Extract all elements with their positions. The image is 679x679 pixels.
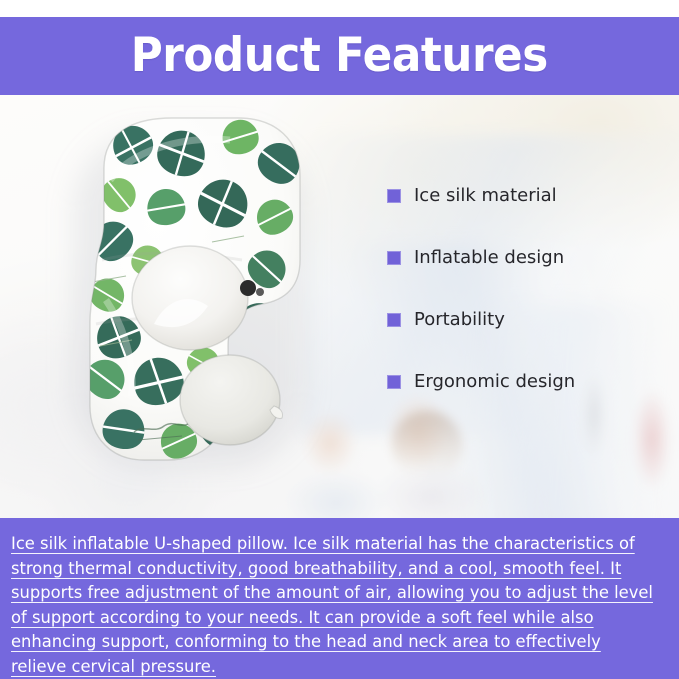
feature-label: Portability [414, 309, 505, 331]
product-pillow-image [62, 110, 312, 470]
square-bullet-icon [387, 313, 401, 327]
feature-list: Ice silk material Inflatable design Port… [387, 185, 667, 393]
product-stage: Ice silk material Inflatable design Port… [0, 95, 679, 518]
feature-item-ice-silk-material[interactable]: Ice silk material [387, 185, 667, 207]
square-bullet-icon [387, 251, 401, 265]
pillow-center-opening [132, 246, 248, 350]
feature-item-ergonomic-design[interactable]: Ergonomic design [387, 371, 667, 393]
pillow-illustration [62, 110, 312, 470]
feature-label: Ice silk material [414, 185, 557, 207]
feature-item-portability[interactable]: Portability [387, 309, 667, 331]
square-bullet-icon [387, 189, 401, 203]
product-features-infographic: Product Features [0, 0, 679, 679]
header-banner: Product Features [0, 17, 679, 95]
feature-item-inflatable-design[interactable]: Inflatable design [387, 247, 667, 269]
feature-label: Ergonomic design [414, 371, 575, 393]
square-bullet-icon [387, 375, 401, 389]
pillow-valve-disc [180, 355, 283, 445]
description-block: Ice silk inflatable U-shaped pillow. Ice… [0, 518, 679, 679]
feature-label: Inflatable design [414, 247, 564, 269]
page-title: Product Features [131, 31, 548, 81]
product-description: Ice silk inflatable U-shaped pillow. Ice… [11, 532, 659, 679]
